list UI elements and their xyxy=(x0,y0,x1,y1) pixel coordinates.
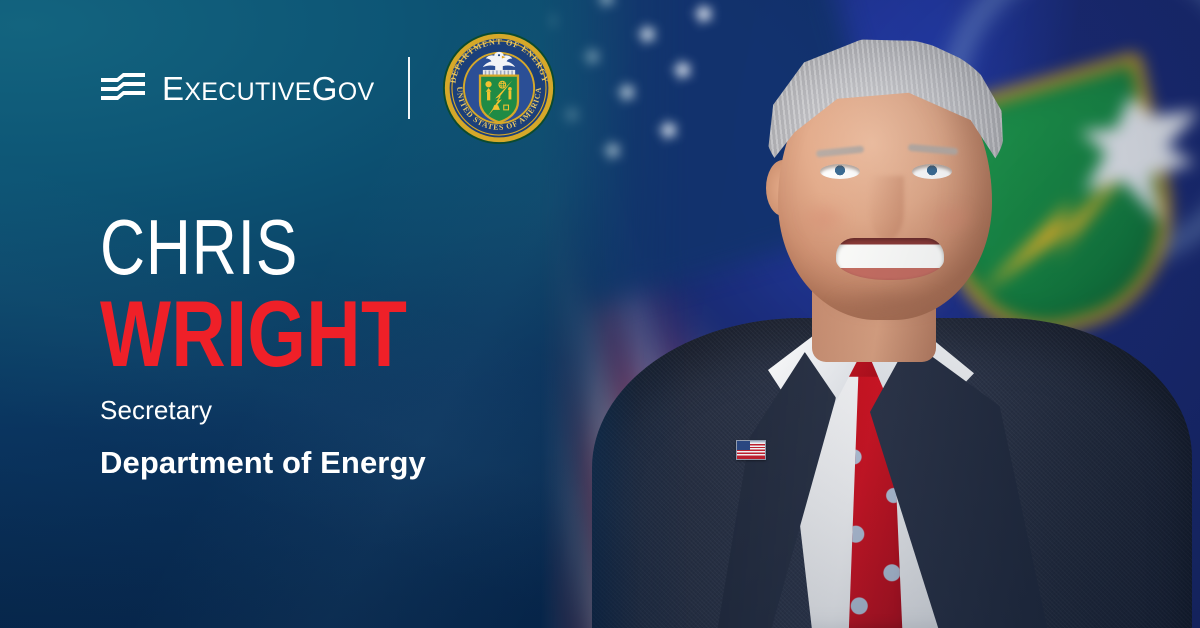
department-of-energy-seal-icon: DEPARTMENT OF ENERGY UNITED STATES OF AM… xyxy=(442,31,556,145)
agency-name: Department of Energy xyxy=(100,445,426,481)
name-block: CHRIS WRIGHT xyxy=(100,215,484,373)
first-name: CHRIS xyxy=(100,215,407,281)
last-name: WRIGHT xyxy=(100,295,407,374)
logo-letter-e: E xyxy=(162,70,184,107)
brand-divider xyxy=(408,57,410,119)
logo-text-xecutive: XECUTIVE xyxy=(184,78,311,106)
role-title: Secretary xyxy=(100,395,212,426)
executivegov-wordmark: EXECUTIVEGOV xyxy=(162,72,374,105)
brand-bar: EXECUTIVEGOV DEPARTMENT OF ENERGY UNITED… xyxy=(100,57,556,119)
logo-letter-g: G xyxy=(312,70,338,107)
social-share-card: ★ ★ ★ ★ ★ ★ ★ ★ ★ ★ ★ xyxy=(0,0,1200,628)
wavy-stripes-icon xyxy=(100,71,146,105)
executivegov-logo[interactable]: EXECUTIVEGOV xyxy=(100,71,374,105)
logo-text-ov: OV xyxy=(338,78,375,106)
